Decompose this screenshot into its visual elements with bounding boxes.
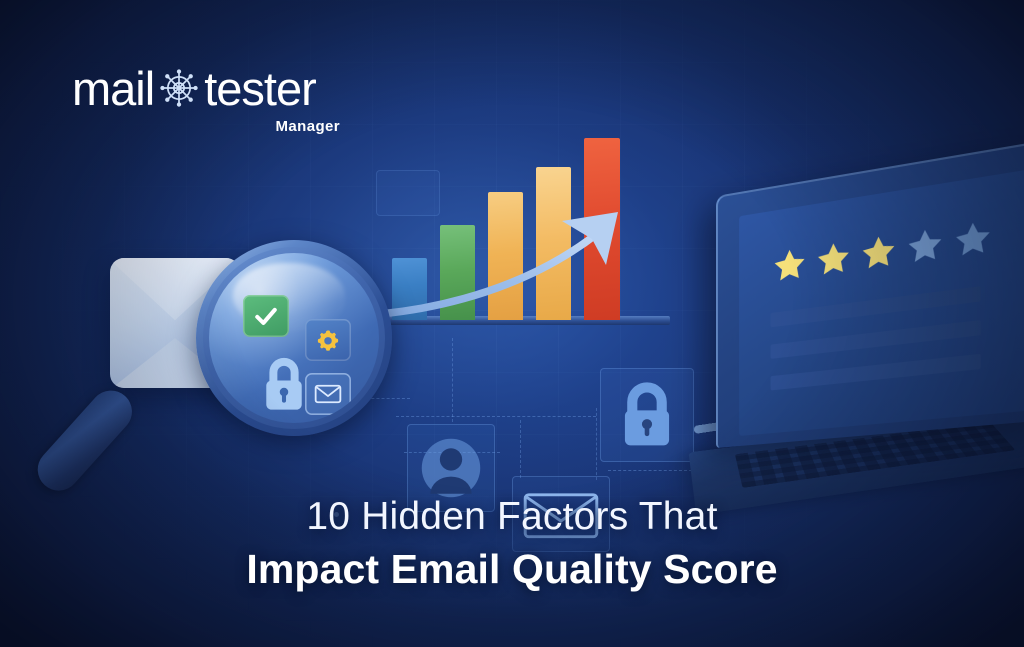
ships-wheel-icon <box>156 65 202 111</box>
star-empty-icon <box>906 224 943 266</box>
brand-logo[interactable]: mail tester Ma <box>72 62 342 142</box>
screen-text-line <box>771 286 981 327</box>
deco-lock-box <box>600 368 694 462</box>
star-filled-icon <box>816 238 851 278</box>
brand-subtitle: Manager <box>72 118 342 135</box>
headline-line-1: 10 Hidden Factors That <box>0 494 1024 540</box>
check-glyph <box>252 302 280 330</box>
magnifying-glass <box>196 240 392 436</box>
headline-line-2: Impact Email Quality Score <box>0 544 1024 594</box>
padlock-icon <box>257 353 311 415</box>
deco-dashed-line <box>452 338 453 422</box>
envelope-icon <box>305 373 351 415</box>
star-filled-icon <box>773 245 807 285</box>
magnifier-lens <box>209 253 379 423</box>
star-filled-icon <box>860 231 896 272</box>
deco-dashed-line <box>596 408 597 480</box>
brand-word-tester: tester <box>204 65 316 112</box>
brand-logo-row: mail tester <box>72 62 342 114</box>
deco-dashed-line <box>520 420 521 478</box>
headline: 10 Hidden Factors That Impact Email Qual… <box>0 494 1024 594</box>
gear-icon <box>305 319 351 361</box>
deco-dashed-line <box>396 416 596 417</box>
laptop-screen <box>739 166 1024 436</box>
laptop-lid <box>716 138 1024 448</box>
padlock-glyph <box>257 353 311 415</box>
envelope-glyph <box>314 383 342 405</box>
brand-word-mail: mail <box>72 65 154 112</box>
screen-text-lines <box>771 286 981 408</box>
padlock-icon <box>601 369 693 461</box>
magnifier-handle <box>29 382 141 499</box>
star-rating <box>773 217 993 284</box>
star-empty-icon <box>954 217 992 259</box>
screen-text-line <box>771 354 981 391</box>
check-icon <box>243 295 289 337</box>
gear-glyph <box>315 327 341 353</box>
laptop-device <box>716 196 1024 496</box>
screen-text-line <box>771 320 981 359</box>
hero-banner: mail tester Ma <box>0 0 1024 647</box>
